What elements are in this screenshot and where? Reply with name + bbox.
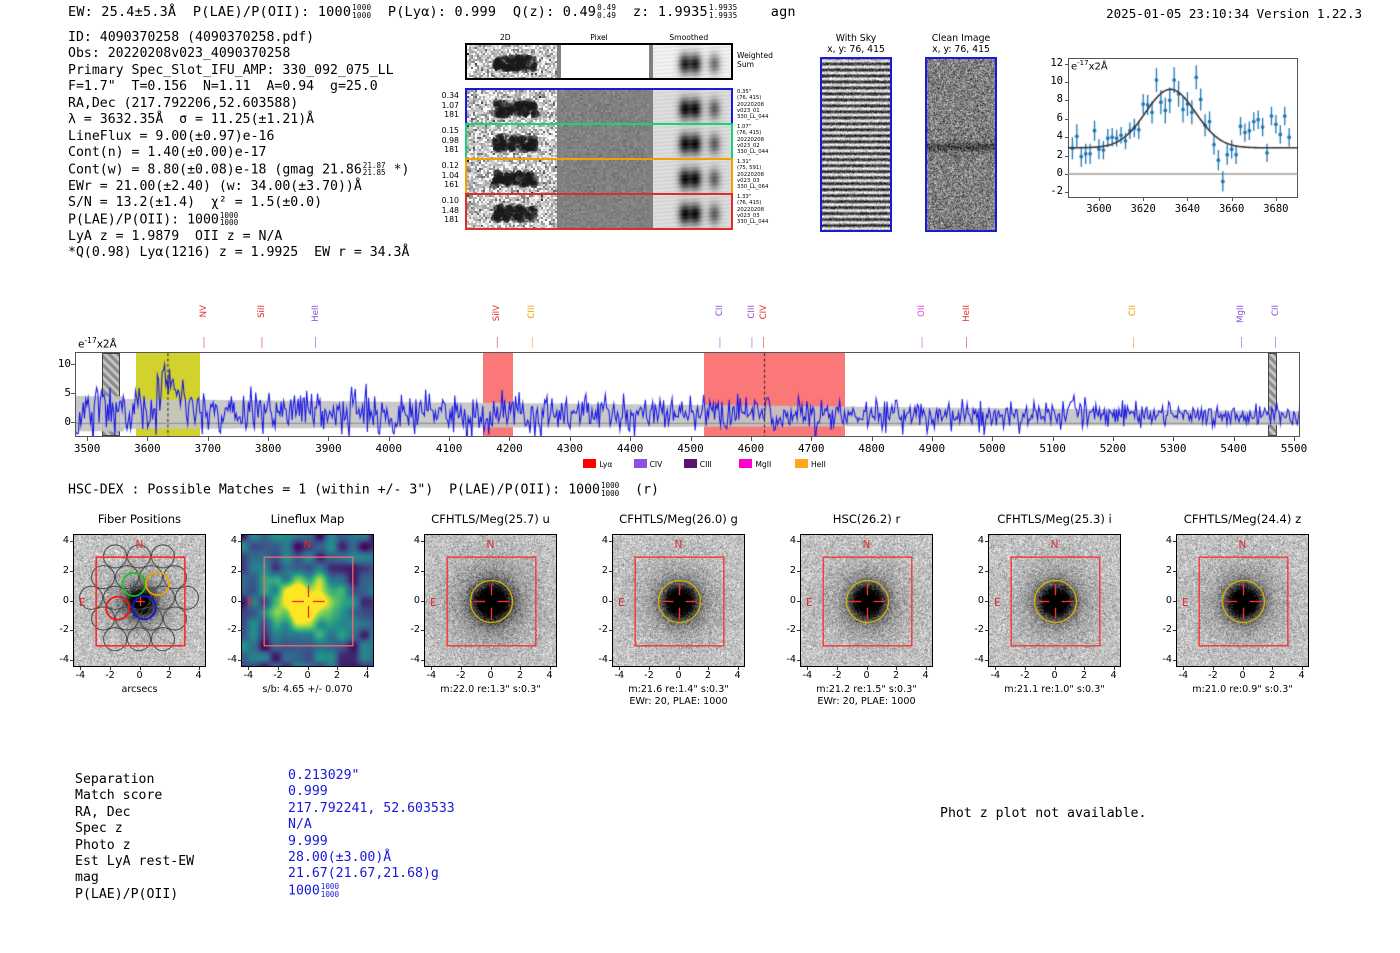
cutout-xtick-mark-0-3 [169,667,170,670]
spec2d-row-1 [465,88,733,125]
spectrum-xtick-mark [87,437,88,441]
cutout-xtick-5-3: 2 [1074,670,1094,681]
photz-unavailable-note: Phot z plot not available. [940,806,1146,821]
spectrum-line-bracket-4: ⏐ [529,338,535,349]
cutout-xtick-mark-2-3 [520,667,521,670]
spectrum-line-bracket-9: ⏐ [964,338,970,349]
cutout-overlay-1 [242,535,374,667]
cutout-xtick-3-1: -2 [639,670,659,681]
spec2d-left-1-2: 181 [425,110,459,120]
spectrum-line-bracket-1: ⏐ [259,338,265,349]
cutout-xtick-2-1: -2 [451,670,471,681]
header-classification: agn [771,4,796,20]
legend-swatch-heii [795,459,808,468]
cutout-xtick-mark-2-0 [431,667,432,670]
cutout-overlay-0 [74,535,206,667]
cutout-ytick-mark-6-4 [1173,660,1176,661]
legend-label-civ: CIV [650,460,663,469]
line-fit-ytick: 2 [1032,149,1063,161]
legend-swatch-mgii [739,459,752,468]
cutout-image-5[interactable] [988,534,1121,667]
spectrum-xtick-mark [1234,437,1235,441]
line-fit-ytick-mark [1065,119,1068,120]
spec2d-pixelflat-1 [561,90,649,123]
cutout-ytick-mark-0-1 [70,571,73,572]
cutout-ytick-mark-4-2 [797,601,800,602]
cutout-xtick-0-2: 0 [130,670,150,681]
cutout-ytick-mark-5-4 [985,660,988,661]
spectrum-xtick: 3700 [184,442,232,455]
match-key-7: P(LAE)/P(OII) [75,887,178,903]
sky-panel-title-0: With Sky [798,33,914,44]
info-line-9: EWr = 21.00(±2.40) (w: 34.00(±3.70))Å [68,179,409,195]
cutout-ytick-mark-6-1 [1173,571,1176,572]
info-line-0: ID: 4090370258 (4090370258.pdf) [68,30,409,46]
info-line-6: LineFlux = 9.00(±0.97)e-16 [68,129,409,145]
legend-label-ciii: CIII [700,460,712,469]
spectrum-line-label-siii-1: SiII [257,305,267,318]
cutout-ytick-0-3: -2 [51,624,69,635]
line-fit-xtick-mark [1143,198,1144,201]
spec2d-right-labels-1: 0.35"(76, 415)20220208v023_01330_LL_044 [737,89,797,120]
spectrum-xtick: 5400 [1210,442,1258,455]
spectrum-xtick: 3900 [304,442,352,455]
cutout-ytick-mark-1-2 [238,601,241,602]
spec2d-pixelflat-2 [561,125,649,158]
cutout-image-4[interactable] [800,534,933,667]
cutout-ytick-0-0: 4 [51,535,69,546]
cutout-xtick-5-1: -2 [1015,670,1035,681]
cutout-xtick-1-1: -2 [268,670,288,681]
cutout-ytick-6-2: 0 [1154,595,1172,606]
cutout-xtick-3-0: -4 [609,670,629,681]
cutout-ytick-6-0: 4 [1154,535,1172,546]
spec2d-left-1-1: 1.07 [425,101,459,111]
spec2d-left-2-2: 181 [425,145,459,155]
spectrum-line-label-mgii-11: MgII [1236,305,1246,323]
cutout-xtick-mark-0-2 [140,667,141,670]
match-value-4: 9.999 [288,834,328,850]
line-fit-ytick-mark [1065,64,1068,65]
line-fit-ytick-mark [1065,100,1068,101]
line-fit-xtick: 3640 [1167,203,1207,215]
cutout-title-4: HSC(26.2) r [772,512,961,526]
match-key-0: Separation [75,772,154,788]
spectrum-xtick-mark [509,437,510,441]
spectrum-xtick: 5200 [1089,442,1137,455]
spectrum-ytick: 5 [45,386,71,399]
cutout-ytick-2-0: 4 [402,535,420,546]
cutout-caption-line1-3: m:21.6 re:1.4" s:0.3" [578,684,779,696]
cutout-title-6: CFHTLS/Meg(24.4) z [1148,512,1337,526]
cutout-xtick-mark-2-2 [491,667,492,670]
spectrum-line-bracket-6: ⏐ [749,338,755,349]
cutout-image-0[interactable] [73,534,206,667]
cutout-caption-line1-5: m:21.1 re:1.0" s:0.3" [954,684,1155,696]
cutout-ytick-mark-1-4 [238,660,241,661]
match-value-5: 28.00(±3.00)Å [288,850,391,866]
cutout-xtick-mark-4-2 [867,667,868,670]
info-line-10: S/N = 13.2(±1.4) χ² = 1.5(±0.0) [68,195,409,211]
spectrum-flux-unit: e-17x2Å [78,336,117,351]
spectrum-xtick: 4900 [908,442,956,455]
spec2d-right-1-4: 330_LL_044 [737,114,797,120]
line-fit-xtick: 3620 [1123,203,1163,215]
match-value-0: 0.213029" [288,768,359,784]
spec2d-left-3-0: 0.12 [425,161,459,171]
spectrum-xtick-mark [268,437,269,441]
line-fit-plot: -202468101236003620364036603680e-17x2Å [1032,52,1304,224]
spec2d-left-2-0: 0.15 [425,126,459,136]
header-z-range: 1.99351.9935 [709,4,738,19]
line-fit-ytick: 4 [1032,130,1063,142]
cutout-xtick-2-2: 0 [481,670,501,681]
cutout-xtick-0-3: 2 [159,670,179,681]
cutout-image-6[interactable] [1176,534,1309,667]
cutout-caption-line1-2: m:22.0 re:1.3" s:0.3" [390,684,591,696]
line-fit-xtick-mark [1232,198,1233,201]
cutout-image-3[interactable] [612,534,745,667]
timestamp-version: 2025-01-05 23:10:34 Version 1.22.3 [1106,6,1362,21]
cutout-ytick-0-4: -4 [51,654,69,665]
spec2d-row-0 [465,43,733,80]
cutout-xtick-0-1: -2 [100,670,120,681]
match-key-6: mag [75,870,99,886]
spectrum-xtick: 5300 [1149,442,1197,455]
spec2d-smoothed-4 [653,195,731,228]
cutout-ytick-mark-5-2 [985,601,988,602]
spec2d-right-3-4: 330_LL_064 [737,184,797,190]
spectrum-line-bracket-10: ⏐ [1130,338,1136,349]
cutout-xtick-mark-5-1 [1025,667,1026,670]
line-fit-ytick: 8 [1032,93,1063,105]
cutout-xtick-mark-5-0 [995,667,996,670]
cutout-caption-1: s/b: 4.65 +/- 0.070 [207,684,408,696]
spec2d-left-4-1: 1.48 [425,206,459,216]
cutout-xtick-6-1: -2 [1203,670,1223,681]
cutout-ytick-3-2: 0 [590,595,608,606]
cutout-north-label-0: N [136,539,144,551]
spectrum-xtick-mark [389,437,390,441]
spectrum-xtick: 4800 [848,442,896,455]
spec2d-row-3 [465,158,733,195]
cutout-ytick-mark-3-4 [609,660,612,661]
spec2d-left-labels-4: 0.101.48181 [425,196,459,225]
cutout-xtick-mark-6-1 [1213,667,1214,670]
cutout-ytick-5-1: 2 [966,565,984,576]
cutout-ytick-3-4: -4 [590,654,608,665]
cutout-caption-6: m:21.0 re:0.9" s:0.3" [1142,684,1343,696]
cutout-caption-5: m:21.1 re:1.0" s:0.3" [954,684,1155,696]
spectrum-xtick: 4100 [425,442,473,455]
spectrum-ytick: 10 [45,357,71,370]
cutout-caption-4: m:21.2 re:1.5" s:0.3"EWr: 20, PLAE: 1000 [766,684,967,707]
hscdex-filter: (r) [619,483,659,498]
cutout-xtick-mark-3-0 [619,667,620,670]
spec2d-right-4-4: 330_LL_044 [737,219,797,225]
legend-label-lyα: Lyα [599,460,612,469]
cutout-ytick-mark-1-0 [238,541,241,542]
cutout-xtick-1-3: 2 [327,670,347,681]
cutout-xtick-mark-3-4 [738,667,739,670]
cutout-ytick-mark-4-0 [797,541,800,542]
cutout-xtick-4-2: 0 [857,670,877,681]
cutout-xtick-mark-1-4 [367,667,368,670]
header-qz: Q(z): 0.49 [513,4,596,20]
cutout-ytick-1-2: 0 [219,595,237,606]
spectrum-xtick-mark [992,437,993,441]
info-line-2: Primary Spec_Slot_IFU_AMP: 330_092_075_L… [68,63,409,79]
spectrum-line-bracket-0: ⏐ [201,338,207,349]
cutout-ytick-6-4: -4 [1154,654,1172,665]
cutout-north-label-5: N [1051,539,1059,551]
spectrum-ytick-mark [71,364,75,365]
cutout-east-label-3: E [618,597,625,609]
cutout-ytick-5-2: 0 [966,595,984,606]
cutout-xtick-mark-6-0 [1183,667,1184,670]
spectrum-xtick-mark [751,437,752,441]
cutout-xtick-mark-3-1 [649,667,650,670]
info-plae-range: 10001000 [220,212,238,227]
line-fit-ytick: 6 [1032,112,1063,124]
spectrum-line-label-nv-0: NV [199,305,209,317]
cutout-ytick-4-2: 0 [778,595,796,606]
cutout-north-label-3: N [675,539,683,551]
cutout-xtick-mark-2-4 [550,667,551,670]
spectrum-ytick: 0 [45,415,71,428]
cutout-ytick-6-3: -2 [1154,624,1172,635]
line-fit-flux-unit: e-17x2Å [1071,59,1108,72]
cutout-xtick-6-3: 2 [1262,670,1282,681]
cutout-ytick-mark-0-4 [70,660,73,661]
match-value-6: 21.67(21.67,21.68)g [288,866,439,882]
spec2d-pixelflat-0 [561,45,649,78]
spec2d-right-labels-2: 1.07"(76, 415)20220208v023_02330_LL_044 [737,124,797,155]
cutout-xtick-6-2: 0 [1233,670,1253,681]
spectrum-line-bracket-7: ⏐ [761,338,767,349]
cutout-ytick-4-3: -2 [778,624,796,635]
cutout-caption-line1-4: m:21.2 re:1.5" s:0.3" [766,684,967,696]
line-fit-xtick-mark [1187,198,1188,201]
spectrum-xtick: 4300 [546,442,594,455]
cutout-caption-2: m:22.0 re:1.3" s:0.3" [390,684,591,696]
spectrum-line-bracket-12: ⏐ [1273,338,1279,349]
cutout-xtick-5-2: 0 [1045,670,1065,681]
line-fit-ytick: 12 [1032,57,1063,69]
cutout-ytick-mark-2-4 [421,660,424,661]
spectrum-xtick: 4700 [787,442,835,455]
cutout-ytick-mark-6-0 [1173,541,1176,542]
spectrum-xtick-mark [932,437,933,441]
cutout-caption-line2-3: EWr: 20, PLAE: 1000 [578,696,779,708]
spec2d-right-labels-4: 1.33"(76, 415)20220208v023_03330_LL_044 [737,194,797,225]
match-plae-range: 10001000 [321,883,339,898]
spec2d-smoothed-1 [653,90,731,123]
cutout-xtick-2-4: 4 [540,670,560,681]
cutout-xtick-mark-3-3 [708,667,709,670]
full-spectrum-axes [75,352,1300,437]
cutout-ytick-1-3: -2 [219,624,237,635]
line-fit-ytick-mark [1065,192,1068,193]
spectrum-line-label-ciii-6: CIII [747,305,757,319]
cutout-xtick-mark-4-4 [926,667,927,670]
cutout-east-label-0: E [79,597,86,609]
spectrum-xtick: 3500 [63,442,111,455]
cutout-ytick-1-4: -4 [219,654,237,665]
line-fit-ytick-mark [1065,82,1068,83]
legend-label-mgii: MgII [755,460,771,469]
cutout-ytick-4-4: -4 [778,654,796,665]
spectrum-line-label-siiv-3: SiIV [492,305,502,321]
cutout-ytick-1-0: 4 [219,535,237,546]
spectrum-line-label-cii-10: CII [1128,305,1138,316]
spectrum-line-label-cii-12: CII [1271,305,1281,316]
spectrum-xtick-mark [1053,437,1054,441]
cutout-xtick-4-0: -4 [797,670,817,681]
spectrum-xtick-mark [1113,437,1114,441]
cutout-east-label-2: E [430,597,437,609]
match-key-3: Spec z [75,821,123,837]
match-key-5: Est LyA rest-EW [75,854,194,870]
cutout-ytick-mark-1-3 [238,630,241,631]
spectrum-line-label-heii-2: HeII [311,305,321,322]
spectrum-line-label-heii-9: HeII [962,305,972,322]
cutout-caption-line1-6: m:21.0 re:0.9" s:0.3" [1142,684,1343,696]
header-plae-range: 10001000 [352,4,371,19]
cutout-ytick-3-3: -2 [590,624,608,635]
cutout-xtick-mark-4-1 [837,667,838,670]
cutout-xtick-3-4: 4 [728,670,748,681]
cutout-image-1[interactable] [241,534,374,667]
cutout-xtick-mark-4-0 [807,667,808,670]
cutout-image-2[interactable] [424,534,557,667]
cutout-xtick-mark-2-1 [461,667,462,670]
line-fit-ytick: 10 [1032,75,1063,87]
cutout-ytick-6-1: 2 [1154,565,1172,576]
spectrum-xtick-mark [328,437,329,441]
spec2d-left-3-2: 161 [425,180,459,190]
cutout-ytick-2-1: 2 [402,565,420,576]
info-line-4: RA,Dec (217.792206,52.603588) [68,96,409,112]
cutout-ytick-mark-5-1 [985,571,988,572]
cutout-xtick-3-3: 2 [698,670,718,681]
spectrum-xtick-mark [449,437,450,441]
cutout-ytick-mark-3-2 [609,601,612,602]
cutout-ytick-5-3: -2 [966,624,984,635]
spectrum-xtick-mark [1294,437,1295,441]
spectrum-line-bracket-3: ⏐ [494,338,500,349]
cutout-xtick-mark-3-2 [679,667,680,670]
spectrum-xtick: 4600 [727,442,775,455]
spec2d-left-1-0: 0.34 [425,91,459,101]
cutout-ytick-mark-4-4 [797,660,800,661]
cutout-ytick-2-4: -4 [402,654,420,665]
cutout-title-3: CFHTLS/Meg(26.0) g [584,512,773,526]
legend-swatch-civ [634,459,647,468]
spec2d-smoothed-0 [653,45,731,78]
spectrum-xtick: 5000 [968,442,1016,455]
sky-panel-header-0: With Skyx, y: 76, 415 [798,33,914,55]
cutout-overlay-5 [989,535,1121,667]
spectrum-xtick: 4500 [667,442,715,455]
cutout-north-label-2: N [487,539,495,551]
hscdex-match-line: HSC-DEX : Possible Matches = 1 (within +… [68,482,659,498]
cutout-xtick-1-4: 4 [357,670,377,681]
match-value-2: 217.792241, 52.603533 [288,801,455,817]
info-line-3: F=1.7" T=0.156 N=1.11 A=0.94 g=25.0 [68,79,409,95]
line-fit-xtick: 3660 [1212,203,1252,215]
info-line-1: Obs: 20220208v023_4090370258 [68,46,409,62]
hscdex-text: HSC-DEX : Possible Matches = 1 (within +… [68,483,600,498]
cutout-xtick-mark-6-2 [1243,667,1244,670]
cutout-ytick-0-2: 0 [51,595,69,606]
cutout-overlay-4 [801,535,933,667]
line-fit-ytick: 0 [1032,167,1063,179]
match-value-7: 100010001000 [288,883,339,900]
cutout-ytick-mark-2-0 [421,541,424,542]
cutout-ytick-2-3: -2 [402,624,420,635]
cutout-ytick-mark-0-3 [70,630,73,631]
cutout-ytick-5-0: 4 [966,535,984,546]
spectrum-xtick: 3800 [244,442,292,455]
spec2d-pixelflat-4 [561,195,649,228]
cutout-caption-3: m:21.6 re:1.4" s:0.3"EWr: 20, PLAE: 1000 [578,684,779,707]
spec2d-left-4-2: 181 [425,215,459,225]
spec2d-title-2: Smoothed [669,33,708,42]
cutout-ytick-0-1: 2 [51,565,69,576]
spec2d-left-3-1: 1.04 [425,171,459,181]
cutout-xtick-5-4: 4 [1104,670,1124,681]
cutout-ytick-4-1: 2 [778,565,796,576]
cutout-ytick-mark-0-2 [70,601,73,602]
cutout-ytick-mark-2-2 [421,601,424,602]
cutout-ytick-mark-5-0 [985,541,988,542]
header-plae: P(LAE)/P(OII): 1000 [193,4,351,20]
hscdex-plae-range: 10001000 [601,482,619,497]
cutout-xtick-4-1: -2 [827,670,847,681]
match-value-1: 0.999 [288,784,328,800]
cutout-ytick-mark-6-3 [1173,630,1176,631]
cutout-ytick-3-1: 2 [590,565,608,576]
cutout-xtick-mark-0-0 [80,667,81,670]
spectrum-xtick: 5500 [1270,442,1318,455]
spectrum-line-bracket-2: ⏐ [313,338,319,349]
cutout-xtick-mark-1-0 [248,667,249,670]
cutout-caption-line1-1: s/b: 4.65 +/- 0.070 [207,684,408,696]
cutout-xtick-6-0: -4 [1173,670,1193,681]
cutout-xtick-mark-5-2 [1055,667,1056,670]
spectrum-xtick-mark [691,437,692,441]
cutout-ytick-mark-1-1 [238,571,241,572]
cutout-ytick-mark-4-3 [797,630,800,631]
cutout-ytick-mark-0-0 [70,541,73,542]
cutout-ytick-2-2: 0 [402,595,420,606]
spectrum-xtick-mark [1173,437,1174,441]
spec2d-left-4-0: 0.10 [425,196,459,206]
cutout-ytick-mark-2-1 [421,571,424,572]
cutout-xtick-3-2: 0 [669,670,689,681]
spec2d-right-labels-3: 1.31"(75, 591)20220208v023_03330_LL_064 [737,159,797,190]
cutout-xtick-mark-5-3 [1084,667,1085,670]
cutout-xtick-mark-1-2 [308,667,309,670]
gmag-range: 21.8721.85 [363,162,386,177]
cutout-xtick-mark-0-1 [110,667,111,670]
match-key-2: RA, Dec [75,805,131,821]
cutout-east-label-6: E [1182,597,1189,609]
header-plya: P(Lyα): 0.999 [388,4,496,20]
spec2d-right-2-4: 330_LL_044 [737,149,797,155]
cutout-xtick-mark-0-4 [199,667,200,670]
